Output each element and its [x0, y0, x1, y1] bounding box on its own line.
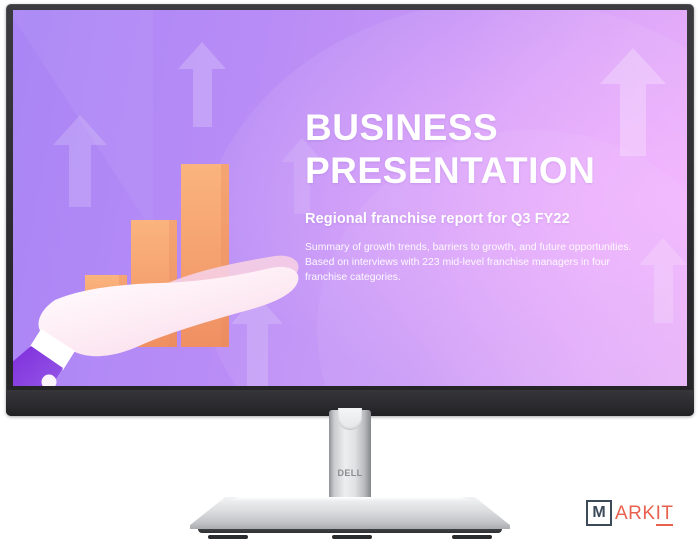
watermark-it: IT: [656, 503, 674, 526]
screenshot-stage: BUSINESS PRESENTATION Regional franchise…: [0, 0, 700, 548]
markit-watermark: M ARKIT: [586, 500, 673, 526]
cable-management-hole: [338, 408, 362, 430]
monitor-stand-base: [190, 497, 510, 537]
monitor-stand-neck: DELL: [329, 410, 371, 503]
up-arrow-icon: [178, 42, 226, 127]
slide-title: BUSINESS PRESENTATION: [305, 106, 651, 192]
presentation-slide: BUSINESS PRESENTATION Regional franchise…: [13, 10, 687, 386]
slide-body-text: Summary of growth trends, barriers to gr…: [305, 240, 651, 286]
base-top-highlight: [224, 497, 476, 502]
watermark-text: ARKIT: [615, 504, 673, 523]
dell-logo: DELL: [329, 468, 371, 478]
slide-title-line-1: BUSINESS: [305, 106, 651, 149]
monitor-screen[interactable]: BUSINESS PRESENTATION Regional franchise…: [13, 10, 687, 386]
base-foot: [452, 535, 492, 539]
slide-subtitle: Regional franchise report for Q3 FY22: [305, 211, 651, 227]
base-foot: [332, 535, 372, 539]
watermark-ark: ARK: [615, 503, 656, 524]
watermark-boxed-letter: M: [586, 500, 612, 526]
hand-holding-bar-chart-illustration: [13, 120, 313, 386]
dell-monitor: BUSINESS PRESENTATION Regional franchise…: [6, 4, 694, 416]
slide-title-line-2: PRESENTATION: [305, 149, 651, 192]
base-foot: [208, 535, 248, 539]
slide-text-block: BUSINESS PRESENTATION Regional franchise…: [305, 106, 651, 286]
